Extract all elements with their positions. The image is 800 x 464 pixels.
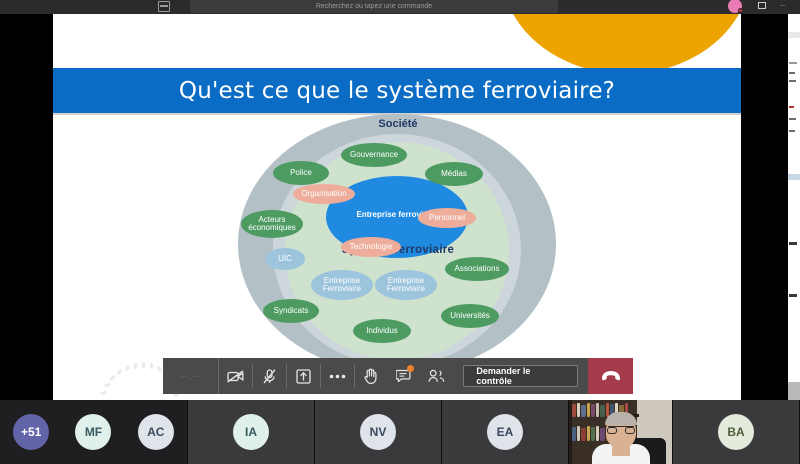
overflow-participants-count[interactable]: +51 xyxy=(13,414,49,450)
actor-acteurs-economiques: Acteurs économiques xyxy=(241,210,303,238)
avatar-ia: IA xyxy=(233,414,269,450)
video-feed xyxy=(569,400,672,464)
participant-tile-ia[interactable]: IA xyxy=(188,400,315,464)
hangup-button[interactable] xyxy=(588,358,633,394)
app-grid-icon[interactable] xyxy=(158,1,170,12)
aspect-technologie: Technologie xyxy=(341,237,401,257)
actor-individus: Individus xyxy=(353,319,411,343)
meeting-timer: --:-- xyxy=(163,358,219,394)
presence-status-badge xyxy=(738,8,743,13)
shared-content-stage: Qu'est ce que le système ferroviaire? So… xyxy=(0,14,800,400)
meeting-control-bar: --:-- xyxy=(163,358,633,394)
microphone-off-icon[interactable] xyxy=(253,358,286,394)
participant-tile[interactable]: +51 MF AC xyxy=(0,400,188,464)
share-screen-icon[interactable] xyxy=(287,358,320,394)
avatar-ac[interactable]: AC xyxy=(138,414,174,450)
aspect-organisation: Organisation xyxy=(293,184,355,204)
stage-letterbox-left xyxy=(0,28,53,414)
presentation-slide: Qu'est ce que le système ferroviaire? So… xyxy=(53,14,741,400)
participant-strip: +51 MF AC IA NV EA xyxy=(0,400,800,464)
slide-accent-shape xyxy=(501,14,741,74)
raise-hand-icon[interactable] xyxy=(355,358,388,394)
search-input[interactable]: Recherchez ou tapez une commande xyxy=(190,0,558,13)
aspect-personnel: Personnel xyxy=(418,208,476,228)
avatar-ea: EA xyxy=(487,414,523,450)
slide-title-banner: Qu'est ce que le système ferroviaire? xyxy=(53,68,741,113)
chat-icon[interactable] xyxy=(388,358,421,394)
background-window-edge xyxy=(788,14,800,400)
member-entreprise-ferroviaire-1: Entreprise Ferroviaire xyxy=(311,270,373,300)
member-uic: UIC xyxy=(265,248,305,270)
actor-medias: Médias xyxy=(425,162,483,186)
society-label: Société xyxy=(223,118,573,130)
participant-tile-video[interactable] xyxy=(569,400,673,464)
more-window-options-icon[interactable]: ·· xyxy=(780,2,792,12)
participant-tile-nv[interactable]: NV xyxy=(315,400,442,464)
actor-universites: Universités xyxy=(441,304,499,328)
railway-system-diagram: Société Entreprise ferroviaire Système f… xyxy=(223,114,573,384)
camera-off-icon[interactable] xyxy=(219,358,252,394)
avatar-ba: BA xyxy=(718,414,754,450)
actor-associations: Associations xyxy=(445,257,509,281)
member-entreprise-ferroviaire-2: Entreprise Ferroviaire xyxy=(375,270,437,300)
request-control-button[interactable]: Demander le contrôle xyxy=(463,365,578,387)
avatar-mf[interactable]: MF xyxy=(75,414,111,450)
teams-meeting-window: Recherchez ou tapez une commande ·· Qu'e… xyxy=(0,0,800,464)
more-options-icon[interactable] xyxy=(321,358,354,394)
participant-tile-ea[interactable]: EA xyxy=(442,400,569,464)
page-title: Qu'est ce que le système ferroviaire? xyxy=(179,78,615,104)
avatar-nv: NV xyxy=(360,414,396,450)
actor-police: Police xyxy=(273,161,329,185)
participant-tile-ba[interactable]: BA xyxy=(673,400,800,464)
actor-syndicats: Syndicats xyxy=(263,299,319,323)
restore-window-icon[interactable] xyxy=(758,2,766,9)
teams-title-bar: Recherchez ou tapez une commande ·· xyxy=(0,0,800,14)
actor-gouvernance: Gouvernance xyxy=(341,143,407,167)
person-hair xyxy=(605,412,637,425)
user-avatar-icon[interactable] xyxy=(728,0,742,13)
chat-unread-badge xyxy=(407,365,414,372)
person-glasses xyxy=(608,426,634,433)
participants-icon[interactable] xyxy=(420,358,453,394)
